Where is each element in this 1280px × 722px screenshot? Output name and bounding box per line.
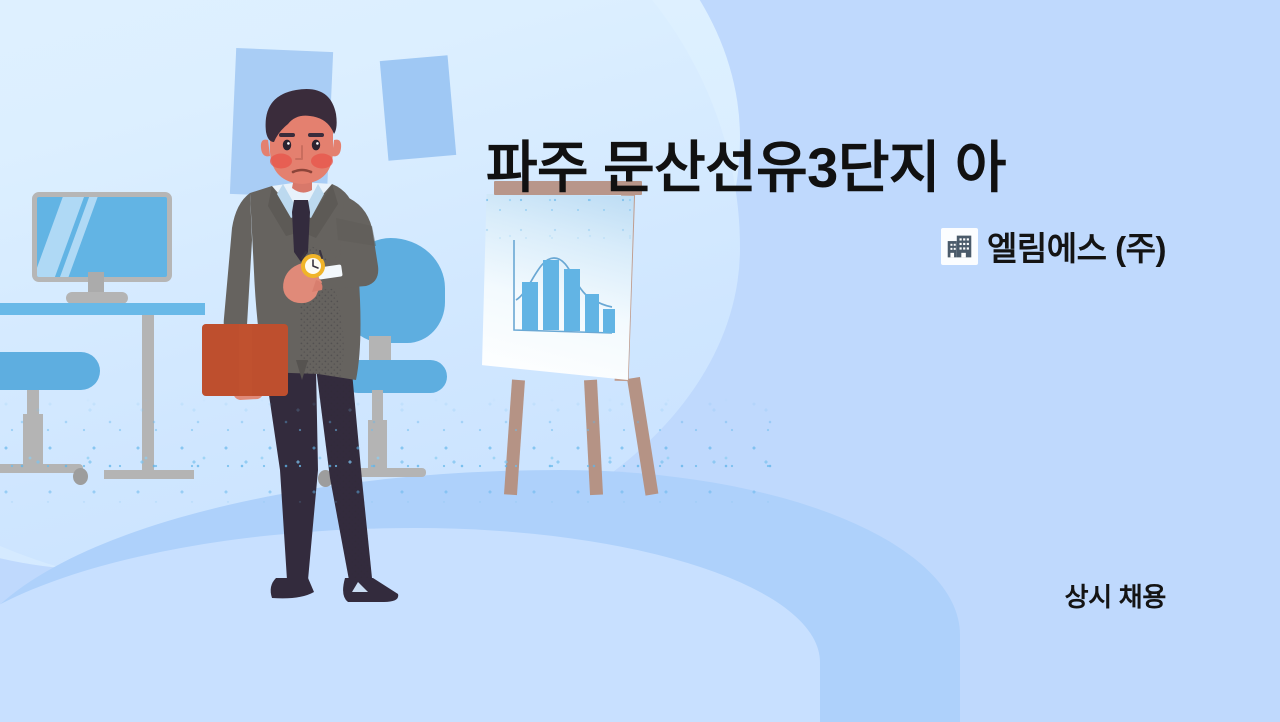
- head: [261, 89, 341, 193]
- page-title: 파주 문산선유3단지 아: [486, 138, 1186, 198]
- company-row: 엘림에스 (주): [941, 222, 1166, 270]
- status-badge: 상시 채용: [1065, 577, 1166, 614]
- briefcase: [202, 324, 288, 396]
- office-building-icon: [941, 228, 978, 265]
- job-posting-banner: 파주 문산선유3단지 아: [0, 0, 1280, 722]
- company-name: 엘림에스 (주): [987, 222, 1166, 270]
- shoes: [271, 578, 399, 602]
- floor-speckle-texture: [0, 396, 780, 506]
